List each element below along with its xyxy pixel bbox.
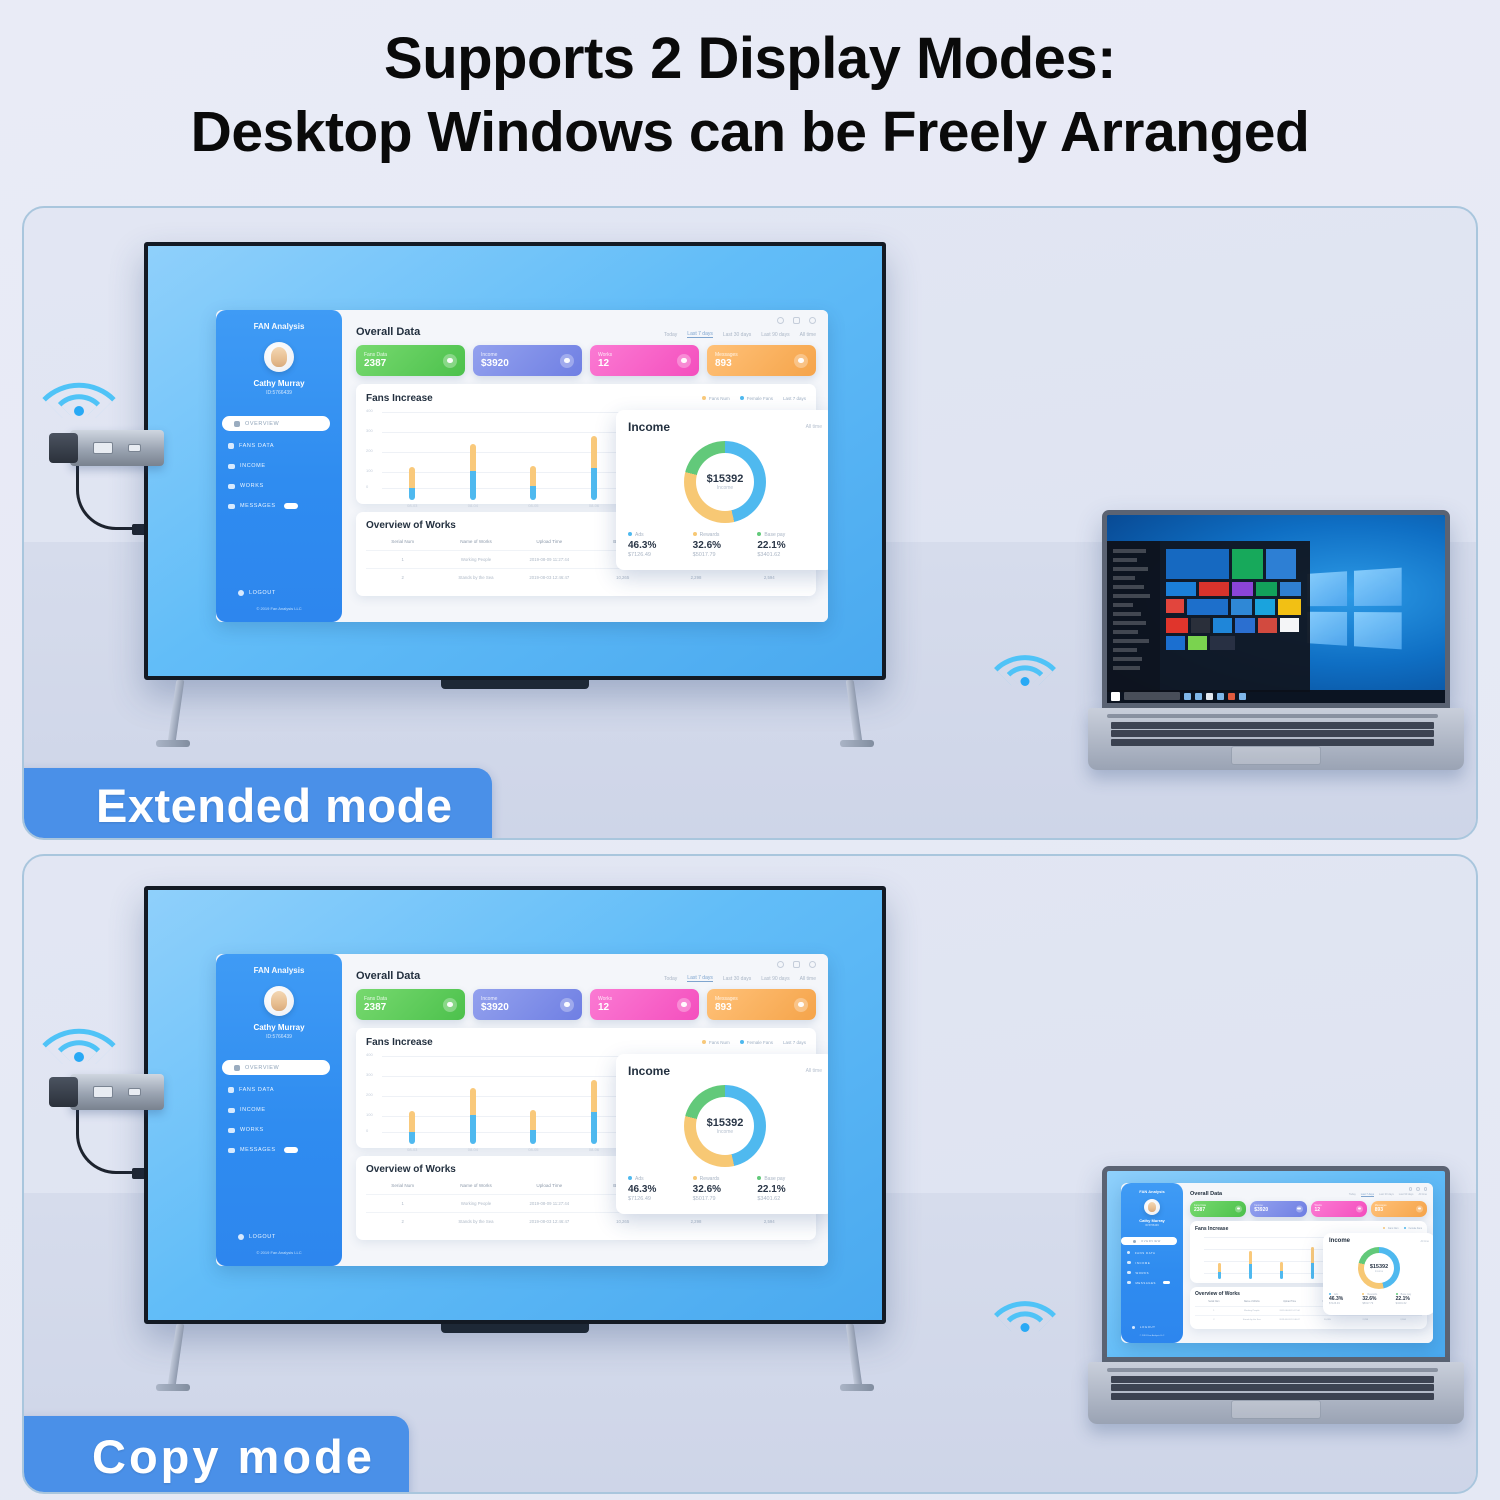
start-button — [1111, 692, 1120, 701]
filter-last-30-days[interactable]: Last 30 days — [723, 976, 751, 982]
sidebar-item-logout[interactable]: LOGOUT — [1132, 1325, 1155, 1329]
laptop-trackpad[interactable] — [1231, 1400, 1321, 1419]
cell: Working People — [439, 557, 512, 562]
filter-last-7-days[interactable]: Last 7 days — [687, 975, 713, 982]
income-title: Income — [628, 1064, 670, 1078]
income-range[interactable]: All time — [806, 424, 822, 430]
laptop-copy: FAN Analysis Cathy Murray ID:5766439 OVE… — [1102, 1166, 1450, 1362]
legend-amount: $5017.79 — [693, 1196, 758, 1202]
income-panel[interactable]: Income All time $15392 Income Ads 46.3% — [616, 410, 828, 570]
income-total-label: Income — [717, 485, 733, 491]
y-tick: 200 — [366, 1092, 373, 1097]
sidebar-copyright: © 2019 Fan Analysis LLC — [216, 606, 342, 611]
sidebar-item-logout[interactable]: LOGOUT — [238, 590, 276, 596]
legend-percent: 22.1% — [757, 1184, 822, 1195]
sidebar-item-messages[interactable]: MESSAGES — [1127, 1279, 1177, 1286]
filter-all-time[interactable]: All time — [1418, 1193, 1427, 1196]
laptop-base — [1088, 1362, 1464, 1424]
y-tick: 0 — [366, 484, 368, 489]
column-header: Upload Time — [1271, 1301, 1309, 1303]
avatar — [264, 342, 294, 372]
user-id: ID:5766439 — [216, 390, 342, 396]
x-tick: 08-04 — [468, 503, 478, 508]
fans-increase-range[interactable]: Last 7 days — [783, 1040, 806, 1045]
sidebar-item-income[interactable]: INCOME — [228, 459, 330, 473]
copy-mode-label: Copy mode — [22, 1416, 409, 1494]
logout-label: LOGOUT — [249, 1234, 276, 1240]
avatar — [264, 986, 294, 1016]
legend-female-fans: Female Fans — [740, 396, 773, 401]
legend-amount: $7126.49 — [628, 552, 693, 558]
chart-bar — [591, 1080, 597, 1144]
cell: Stands by the Sea — [439, 575, 512, 580]
cell: 2,298 — [659, 575, 732, 580]
x-tick: 08-05 — [528, 503, 538, 508]
sidebar-item-label: WORKS — [240, 483, 264, 489]
income-legend-rewards: Rewards 32.6% $5017.79 — [693, 532, 758, 558]
stat-card-income[interactable]: Income $3920 — [1250, 1201, 1306, 1217]
income-donut-chart: $15392 Income — [684, 441, 766, 523]
notification-icon[interactable] — [1416, 1187, 1420, 1191]
tv-foot-right — [840, 1384, 874, 1391]
windows-logo-icon — [1307, 568, 1401, 650]
income-range[interactable]: All time — [806, 1068, 822, 1074]
logout-label: LOGOUT — [249, 590, 276, 596]
cell: 2019-08-09 11:27:44 — [513, 1201, 586, 1206]
chart-bar — [409, 1111, 415, 1144]
stat-card-fans-data[interactable]: Fans Data 2387 — [356, 345, 465, 376]
sidebar-item-overview[interactable]: OVERVIEW — [222, 1060, 330, 1075]
table-row[interactable]: 2 Stands by the Sea 2019-08-03 12:46:47 … — [366, 1212, 806, 1230]
x-tick: 08-04 — [468, 1147, 478, 1152]
user-icon — [228, 443, 234, 449]
column-header: Serial Num — [366, 1183, 439, 1188]
user-id: ID:5766439 — [216, 1034, 342, 1040]
cell: Working People — [439, 1201, 512, 1206]
legend-amount: $7126.49 — [628, 1196, 693, 1202]
y-tick: 200 — [366, 448, 373, 453]
wifi-icon — [46, 1014, 112, 1062]
stat-card-income[interactable]: Income $3920 — [473, 345, 582, 376]
legend-amount: $3401.62 — [757, 1196, 822, 1202]
y-tick: 300 — [366, 428, 373, 433]
y-tick: 100 — [366, 468, 373, 473]
windows-taskbar[interactable] — [1107, 690, 1445, 703]
cell: 2 — [366, 1219, 439, 1224]
messages-badge — [284, 503, 298, 509]
cell: 2,594 — [733, 1219, 806, 1224]
stat-card-works[interactable]: Works 12 — [590, 345, 699, 376]
legend-fans-num: Fans Num — [1383, 1227, 1399, 1230]
search-icon[interactable] — [777, 961, 784, 968]
income-title: Income — [1329, 1238, 1350, 1244]
filter-last-7-days[interactable]: Last 7 days — [1361, 1193, 1374, 1197]
legend-name: Ads — [635, 1176, 644, 1182]
column-header: Serial Num — [1195, 1301, 1233, 1303]
filter-last-90-days[interactable]: Last 90 days — [1399, 1193, 1414, 1196]
filter-all-time[interactable]: All time — [800, 976, 816, 982]
notification-icon[interactable] — [793, 961, 800, 968]
sidebar-item-label: OVERVIEW — [1141, 1239, 1161, 1243]
cell: Working People — [1233, 1310, 1271, 1312]
settings-icon[interactable] — [809, 961, 816, 968]
income-legend-ads: Ads 46.3% $7126.49 — [1329, 1293, 1362, 1305]
sidebar-item-overview[interactable]: OVERVIEW — [222, 416, 330, 431]
filter-last-90-days[interactable]: Last 90 days — [761, 332, 789, 338]
filter-last-30-days[interactable]: Last 30 days — [723, 332, 751, 338]
legend-percent: 46.3% — [628, 540, 693, 551]
dashboard-sidebar: FAN Analysis Cathy Murray ID:5766439 OVE… — [1121, 1183, 1183, 1343]
stat-cards: Fans Data 2387 Income $3920 Works 12 — [356, 345, 816, 376]
income-donut-chart: $15392 Income — [1358, 1247, 1400, 1289]
image-icon — [677, 354, 691, 368]
overall-filters: Today Last 7 days Last 30 days Last 90 d… — [1349, 1193, 1427, 1197]
x-tick: 08-03 — [407, 1147, 417, 1152]
laptop-base — [1088, 708, 1464, 770]
sidebar-item-label: INCOME — [240, 1107, 266, 1113]
sidebar-item-label: OVERVIEW — [245, 421, 279, 427]
cell: 2 — [366, 575, 439, 580]
income-legend-rewards: Rewards 32.6% $5017.79 — [1362, 1293, 1395, 1305]
chart-bar — [591, 436, 597, 500]
sidebar-item-label: FANS DATA — [1135, 1251, 1156, 1255]
fans-increase-legend: Fans Num Female Fans — [1383, 1227, 1422, 1230]
cell: Stands by the Sea — [439, 1219, 512, 1224]
y-tick: 300 — [366, 1072, 373, 1077]
sidebar-item-income[interactable]: INCOME — [228, 1103, 330, 1117]
table-row[interactable]: 2 Stands by the Sea 2019-08-03 12:46:47 … — [1195, 1315, 1422, 1324]
notification-icon[interactable] — [793, 317, 800, 324]
wallet-icon — [560, 998, 574, 1012]
user-name: Cathy Murray — [216, 1023, 342, 1032]
fans-increase-legend: Fans Num Female Fans Last 7 days — [702, 396, 806, 401]
stat-card-works[interactable]: Works 12 — [1311, 1201, 1367, 1217]
stat-card-messages[interactable]: Messages 893 — [707, 989, 816, 1020]
tv-copy: FAN Analysis Cathy Murray ID:5766439 OVE… — [144, 886, 886, 1324]
income-range[interactable]: All time — [1420, 1240, 1429, 1243]
sidebar-item-label: MESSAGES — [240, 1147, 276, 1153]
fans-increase-title: Fans Increase — [1195, 1226, 1228, 1232]
sidebar-item-messages[interactable]: MESSAGES — [228, 1143, 330, 1157]
stat-card-messages[interactable]: Messages 893 — [1371, 1201, 1427, 1217]
user-name: Cathy Murray — [1121, 1218, 1183, 1223]
logout-label: LOGOUT — [1140, 1325, 1155, 1329]
fans-increase-legend: Fans Num Female Fans Last 7 days — [702, 1040, 806, 1045]
column-header: Name of Works — [1233, 1301, 1271, 1303]
cell: 2019-08-03 12:46:47 — [513, 575, 586, 580]
legend-percent: 32.6% — [693, 540, 758, 551]
income-legend-base-pay: Base pay 22.1% $3401.62 — [757, 1176, 822, 1202]
wifi-icon — [996, 644, 1054, 686]
column-header: Name of Works — [439, 539, 512, 544]
user-add-icon — [443, 354, 457, 368]
chart-bar — [470, 444, 476, 500]
stat-card-income[interactable]: Income $3920 — [473, 989, 582, 1020]
laptop-screen: FAN Analysis Cathy Murray ID:5766439 OVE… — [1102, 1166, 1450, 1362]
income-legend-ads: Ads 46.3% $7126.49 — [628, 1176, 693, 1202]
legend-amount: $7126.49 — [1329, 1302, 1362, 1305]
grid-icon — [234, 1065, 240, 1071]
tv-extended: FAN Analysis Cathy Murray ID:5766439 OVE… — [144, 242, 886, 680]
start-menu-app-list[interactable] — [1107, 541, 1160, 691]
sidebar-item-label: WORKS — [240, 1127, 264, 1133]
extended-mode-panel: FAN Analysis Cathy Murray ID:5766439 OVE… — [22, 206, 1478, 840]
mail-icon — [1416, 1205, 1423, 1212]
overall-filters: Today Last 7 days Last 30 days Last 90 d… — [664, 331, 816, 338]
income-legend-base-pay: Base pay 22.1% $3401.62 — [1396, 1293, 1429, 1305]
wifi-icon — [46, 368, 112, 416]
start-menu-tiles[interactable] — [1160, 541, 1310, 691]
user-add-icon — [443, 998, 457, 1012]
avatar — [1144, 1199, 1160, 1215]
fans-increase-range[interactable]: Last 7 days — [783, 396, 806, 401]
sidebar-item-works[interactable]: WORKS — [228, 1123, 330, 1137]
headline-line-2: Desktop Windows can be Freely Arranged — [0, 96, 1500, 169]
filter-today[interactable]: Today — [1349, 1193, 1356, 1196]
copy-mode-panel: FAN Analysis Cathy Murray ID:5766439 OVE… — [22, 854, 1478, 1494]
tv-chin — [441, 1324, 589, 1333]
sidebar-item-label: WORKS — [1136, 1271, 1150, 1275]
stat-card-works[interactable]: Works 12 — [590, 989, 699, 1020]
usb-c-hub — [70, 1074, 164, 1110]
brand-label: FAN Analysis — [1121, 1189, 1183, 1194]
y-tick: 400 — [366, 408, 373, 413]
filter-today[interactable]: Today — [664, 976, 677, 982]
legend-female-fans: Female Fans — [740, 1040, 773, 1045]
column-header: Serial Num — [366, 539, 439, 544]
grid-icon — [1133, 1240, 1136, 1243]
overall-data-title: Overall Data — [356, 970, 420, 982]
chart-bar — [530, 466, 536, 500]
tv-foot-right — [840, 740, 874, 747]
fans-increase-title: Fans Increase — [366, 393, 433, 404]
logout-icon — [238, 1234, 244, 1240]
stat-cards: Fans Data 2387 Income $3920 Works 12 — [1190, 1201, 1427, 1217]
legend-name: Base pay — [764, 532, 785, 538]
filter-today[interactable]: Today — [664, 332, 677, 338]
sidebar-item-label: FANS DATA — [239, 443, 274, 449]
legend-amount: $3401.62 — [757, 552, 822, 558]
wallet-icon — [560, 354, 574, 368]
column-header: Upload Time — [513, 1183, 586, 1188]
income-donut-chart: $15392 Income — [684, 1085, 766, 1167]
income-total-label: Income — [1375, 1270, 1383, 1273]
user-icon — [1127, 1251, 1130, 1254]
y-tick: 0 — [366, 1128, 368, 1133]
y-tick: 400 — [366, 1052, 373, 1057]
dashboard-topbar — [356, 961, 816, 968]
cell: 1 — [1195, 1310, 1233, 1312]
works-table-title: Overview of Works — [366, 520, 456, 531]
legend-name: Rewards — [700, 1176, 720, 1182]
income-legend-rewards: Rewards 32.6% $5017.79 — [693, 1176, 758, 1202]
settings-icon[interactable] — [1424, 1187, 1428, 1191]
cell: 2,594 — [733, 575, 806, 580]
mail-icon — [794, 998, 808, 1012]
sidebar-item-label: MESSAGES — [1136, 1281, 1157, 1285]
income-total-label: Income — [717, 1129, 733, 1135]
sidebar-item-works[interactable]: WORKS — [228, 479, 330, 493]
sidebar-item-label: MESSAGES — [240, 503, 276, 509]
income-panel[interactable]: Income All time $15392 Income Ads 46.3% — [616, 1054, 828, 1214]
brand-label: FAN Analysis — [216, 966, 342, 975]
sidebar-copyright: © 2019 Fan Analysis LLC — [1121, 1335, 1183, 1337]
cell: 10,265 — [586, 575, 659, 580]
legend-fans-num: Fans Num — [702, 1040, 730, 1045]
tv-chin — [441, 680, 589, 689]
cell: 10,265 — [586, 1219, 659, 1224]
sidebar-item-label: INCOME — [1136, 1261, 1151, 1265]
cell: 1 — [366, 557, 439, 562]
sidebar-item-messages[interactable]: MESSAGES — [228, 499, 330, 513]
income-legend-base-pay: Base pay 22.1% $3401.62 — [757, 532, 822, 558]
folder-icon — [228, 484, 235, 489]
user-id: ID:5766439 — [1121, 1224, 1183, 1227]
headline-line-1: Supports 2 Display Modes: — [0, 22, 1500, 96]
cell: 2019-08-03 12:46:47 — [1271, 1319, 1309, 1321]
legend-percent: 46.3% — [628, 1184, 693, 1195]
cell: 2 — [1195, 1319, 1233, 1321]
cell: 2019-08-09 11:27:44 — [513, 557, 586, 562]
user-icon — [228, 1087, 234, 1093]
folder-icon — [228, 1128, 235, 1133]
cell: 1 — [366, 1201, 439, 1206]
chart-bar — [470, 1088, 476, 1144]
mail-icon — [794, 354, 808, 368]
income-legend: Ads 46.3% $7126.49 Rewards 32.6% $5017.7… — [1329, 1293, 1429, 1305]
user-add-icon — [1235, 1205, 1242, 1212]
hub-cable — [76, 464, 140, 530]
cell: 2,298 — [659, 1219, 732, 1224]
sidebar-item-label: FANS DATA — [239, 1087, 274, 1093]
overall-filters: Today Last 7 days Last 30 days Last 90 d… — [664, 975, 816, 982]
income-total-value: $15392 — [707, 473, 744, 485]
sidebar-item-overview[interactable]: OVERVIEW — [1121, 1237, 1177, 1245]
wallet-icon — [1127, 1261, 1131, 1264]
folder-icon — [1127, 1271, 1131, 1274]
income-panel[interactable]: Income All time $15392 Income Ads 46.3% — [1323, 1233, 1433, 1315]
x-tick: 08-06 — [589, 1147, 599, 1152]
legend-fans-num: Fans Num — [702, 396, 730, 401]
settings-icon[interactable] — [809, 317, 816, 324]
table-row[interactable]: 2 Stands by the Sea 2019-08-03 12:46:47 … — [366, 568, 806, 586]
overall-data-title: Overall Data — [1190, 1191, 1222, 1197]
cell: 2,298 — [1346, 1319, 1384, 1321]
overall-data-title: Overall Data — [356, 326, 420, 338]
tv-screen: FAN Analysis Cathy Murray ID:5766439 OVE… — [144, 886, 886, 1324]
column-header: Name of Works — [439, 1183, 512, 1188]
image-icon — [677, 998, 691, 1012]
mail-icon — [228, 1148, 235, 1153]
sidebar-item-fans-data[interactable]: FANS DATA — [228, 1083, 330, 1097]
logout-icon — [238, 590, 244, 596]
messages-badge — [1163, 1281, 1170, 1284]
fans-increase-title: Fans Increase — [366, 1037, 433, 1048]
chart-bar — [1249, 1251, 1252, 1278]
windows-start-menu[interactable] — [1107, 541, 1310, 691]
sidebar-copyright: © 2019 Fan Analysis LLC — [216, 1250, 342, 1255]
page-title: Supports 2 Display Modes: Desktop Window… — [0, 0, 1500, 169]
image-icon — [1356, 1205, 1363, 1212]
legend-amount: $3401.62 — [1396, 1302, 1429, 1305]
sidebar-item-label: INCOME — [240, 463, 266, 469]
cell: Stands by the Sea — [1233, 1319, 1271, 1321]
brand-label: FAN Analysis — [216, 322, 342, 331]
y-tick: 100 — [366, 1112, 373, 1117]
legend-name: Ads — [635, 532, 644, 538]
usb-c-hub — [70, 430, 164, 466]
x-tick: 08-06 — [589, 503, 599, 508]
stat-card-fans-data[interactable]: Fans Data 2387 — [1190, 1201, 1246, 1217]
chart-bar — [1218, 1263, 1221, 1279]
logout-icon — [1132, 1326, 1135, 1329]
wifi-icon — [996, 1290, 1054, 1332]
tv-foot-left — [156, 1384, 190, 1391]
sidebar-item-fans-data[interactable]: FANS DATA — [1127, 1249, 1177, 1256]
messages-badge — [284, 1147, 298, 1153]
filter-last-7-days[interactable]: Last 7 days — [687, 331, 713, 338]
stat-cards: Fans Data 2387 Income $3920 Works 12 — [356, 989, 816, 1020]
stat-card-fans-data[interactable]: Fans Data 2387 — [356, 989, 465, 1020]
sidebar-item-works[interactable]: WORKS — [1127, 1269, 1177, 1276]
laptop-trackpad[interactable] — [1231, 746, 1321, 765]
stat-card-messages[interactable]: Messages 893 — [707, 345, 816, 376]
legend-amount: $5017.79 — [1362, 1302, 1395, 1305]
income-total-value: $15392 — [707, 1117, 744, 1129]
chart-bar — [1280, 1262, 1283, 1279]
sidebar-item-label: OVERVIEW — [245, 1065, 279, 1071]
dashboard-topbar — [356, 317, 816, 324]
legend-percent: 22.1% — [757, 540, 822, 551]
chart-bar — [1311, 1247, 1314, 1278]
x-tick: 08-05 — [528, 1147, 538, 1152]
column-header: Upload Time — [513, 539, 586, 544]
sidebar-item-fans-data[interactable]: FANS DATA — [228, 439, 330, 453]
cell: 10,265 — [1308, 1319, 1346, 1321]
wallet-icon — [228, 464, 235, 469]
search-icon[interactable] — [1409, 1187, 1413, 1191]
filter-all-time[interactable]: All time — [800, 332, 816, 338]
filter-last-90-days[interactable]: Last 90 days — [761, 976, 789, 982]
mirrored-dashboard: FAN Analysis Cathy Murray ID:5766439 OVE… — [1121, 1183, 1433, 1343]
legend-amount: $5017.79 — [693, 552, 758, 558]
cell: 2019-08-03 12:46:47 — [513, 1219, 586, 1224]
sidebar-item-income[interactable]: INCOME — [1127, 1259, 1177, 1266]
tv-foot-left — [156, 740, 190, 747]
grid-icon — [234, 421, 240, 427]
dashboard-sidebar: FAN Analysis Cathy Murray ID:5766439 OVE… — [216, 954, 342, 1266]
cell: 2019-08-09 11:27:44 — [1271, 1310, 1309, 1312]
dashboard-sidebar: FAN Analysis Cathy Murray ID:5766439 OVE… — [216, 310, 342, 622]
search-icon[interactable] — [777, 317, 784, 324]
laptop-extended — [1102, 510, 1450, 708]
filter-last-30-days[interactable]: Last 30 days — [1379, 1193, 1394, 1196]
sidebar-item-logout[interactable]: LOGOUT — [238, 1234, 276, 1240]
legend-name: Rewards — [700, 532, 720, 538]
chart-bar — [409, 467, 415, 500]
income-title: Income — [628, 420, 670, 434]
works-table-title: Overview of Works — [366, 1164, 456, 1175]
income-legend: Ads 46.3% $7126.49 Rewards 32.6% $5017.7… — [628, 532, 822, 558]
mail-icon — [228, 504, 235, 509]
mail-icon — [1127, 1281, 1131, 1284]
tv-screen: FAN Analysis Cathy Murray ID:5766439 OVE… — [144, 242, 886, 680]
income-legend: Ads 46.3% $7126.49 Rewards 32.6% $5017.7… — [628, 1176, 822, 1202]
legend-female-fans: Female Fans — [1404, 1227, 1422, 1230]
wallet-icon — [1296, 1205, 1303, 1212]
search-input — [1124, 692, 1180, 700]
legend-percent: 32.6% — [693, 1184, 758, 1195]
